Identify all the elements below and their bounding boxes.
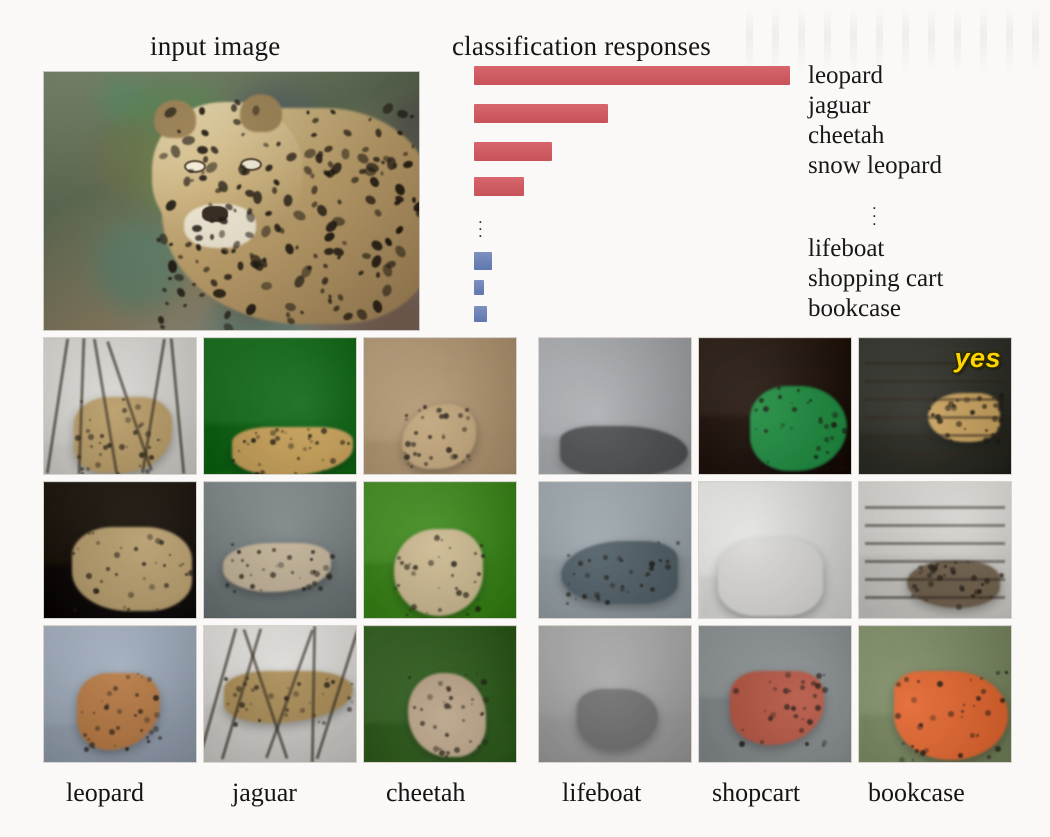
thumbnail[interactable] [699,626,851,762]
thumbnail[interactable] [539,338,691,474]
label-ellipsis-icon: ... [872,200,877,224]
bar-lifeboat [474,252,492,270]
bar-shopping-cart [474,280,484,295]
bar-bookcase [474,306,487,322]
thumbnail[interactable] [859,626,1011,762]
left-thumbnail-grid [44,338,516,762]
thumbnail[interactable] [859,482,1011,618]
thumbnail[interactable] [539,482,691,618]
thumbnail[interactable]: yes [859,338,1011,474]
top-class-labels: leopard jaguar cheetah snow leopard [808,61,942,181]
column-label-cheetah: cheetah [386,778,465,808]
thumbnail[interactable] [204,482,356,618]
column-label-leopard: leopard [66,778,144,808]
thumbnail[interactable] [699,482,851,618]
column-label-bookcase: bookcase [868,778,965,808]
chart-ellipsis-icon: ... [478,214,482,235]
input-image [44,72,419,330]
classification-bar-chart: ... [474,66,804,316]
thumbnail[interactable] [44,482,196,618]
class-label-leopard: leopard [808,61,942,91]
thumbnail[interactable] [204,626,356,762]
thumbnail[interactable] [204,338,356,474]
bar-leopard [474,66,790,85]
bar-snow-leopard [474,177,524,196]
column-label-shopcart: shopcart [712,778,800,808]
right-thumbnail-grid: yes [539,338,1011,762]
bar-cheetah [474,142,552,161]
class-label-jaguar: jaguar [808,91,942,121]
leopard-photo [44,72,419,330]
thumbnail[interactable] [364,482,516,618]
column-label-jaguar: jaguar [232,778,297,808]
thumbnail[interactable] [44,626,196,762]
input-image-title: input image [150,31,280,62]
class-label-cheetah: cheetah [808,121,942,151]
class-label-bookcase: bookcase [808,294,943,324]
classification-responses-title: classification responses [452,31,711,62]
thumbnail[interactable] [699,338,851,474]
class-label-snow-leopard: snow leopard [808,151,942,181]
class-label-shopping-cart: shopping cart [808,264,943,294]
thumbnail[interactable] [44,338,196,474]
class-label-lifeboat: lifeboat [808,234,943,264]
bottom-class-labels: lifeboat shopping cart bookcase [808,234,943,324]
bar-jaguar [474,104,608,123]
yes-annotation: yes [954,343,1001,374]
thumbnail[interactable] [364,626,516,762]
column-label-lifeboat: lifeboat [562,778,641,808]
thumbnail[interactable] [539,626,691,762]
thumbnail[interactable] [364,338,516,474]
figure-canvas: input image classification responses ...… [0,0,1050,837]
